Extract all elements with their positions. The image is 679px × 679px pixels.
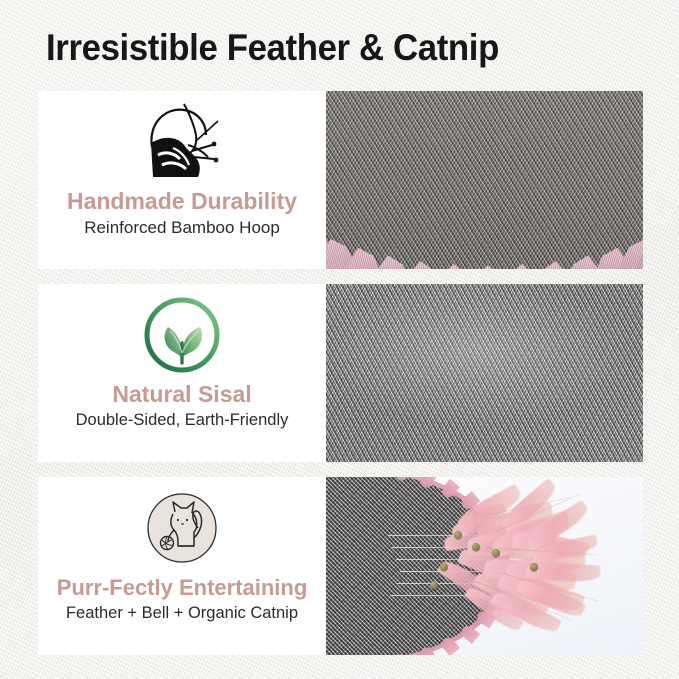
feature-heading: Natural Sisal: [112, 380, 251, 409]
photo-sisal-weave-macro: [326, 284, 643, 462]
bell: [472, 543, 480, 551]
page-title: Irresistible Feather & Catnip: [46, 22, 610, 74]
feature-subtitle: Reinforced Bamboo Hoop: [84, 216, 280, 239]
bell: [492, 549, 500, 557]
feature-row-handmade-durability: Handmade Durability Reinforced Bamboo Ho…: [38, 91, 643, 269]
feature-card-handmade-durability: Handmade Durability Reinforced Bamboo Ho…: [38, 91, 326, 269]
feature-heading: Purr-Fectly Entertaining: [57, 573, 308, 602]
sisal-disc-layer: [326, 91, 643, 269]
bell: [454, 531, 462, 539]
photo-sisal-mat-pink-tassel-edge: [326, 91, 643, 269]
infographic-root: Irresistible Feather & Catnip: [0, 0, 679, 679]
feature-subtitle: Double-Sided, Earth-Friendly: [76, 409, 289, 432]
leaf-sprout-icon-svg: [142, 295, 222, 375]
feature-card-purr-fectly-entertaining: Purr-Fectly Entertaining Feather + Bell …: [38, 477, 326, 655]
feature-subtitle: Feather + Bell + Organic Catnip: [66, 602, 298, 625]
feature-card-natural-sisal: Natural Sisal Double-Sided, Earth-Friend…: [38, 284, 326, 462]
feature-row-natural-sisal: Natural Sisal Double-Sided, Earth-Friend…: [38, 284, 643, 462]
bell: [430, 581, 438, 589]
cat-playing-yarn-icon: [142, 485, 222, 571]
hand-sewing-hoop-icon: [140, 99, 224, 185]
cat-playing-yarn-icon-svg: [142, 488, 222, 568]
feature-heading: Handmade Durability: [67, 187, 297, 216]
photo-highlight: [326, 284, 643, 462]
leaf-sprout-icon: [142, 292, 222, 378]
photo-feathers-bells: [326, 477, 643, 655]
feature-row-purr-fectly-entertaining: Purr-Fectly Entertaining Feather + Bell …: [38, 477, 643, 655]
bell: [440, 563, 448, 571]
hand-sewing-hoop-icon-svg: [140, 101, 224, 183]
bell: [530, 563, 538, 571]
